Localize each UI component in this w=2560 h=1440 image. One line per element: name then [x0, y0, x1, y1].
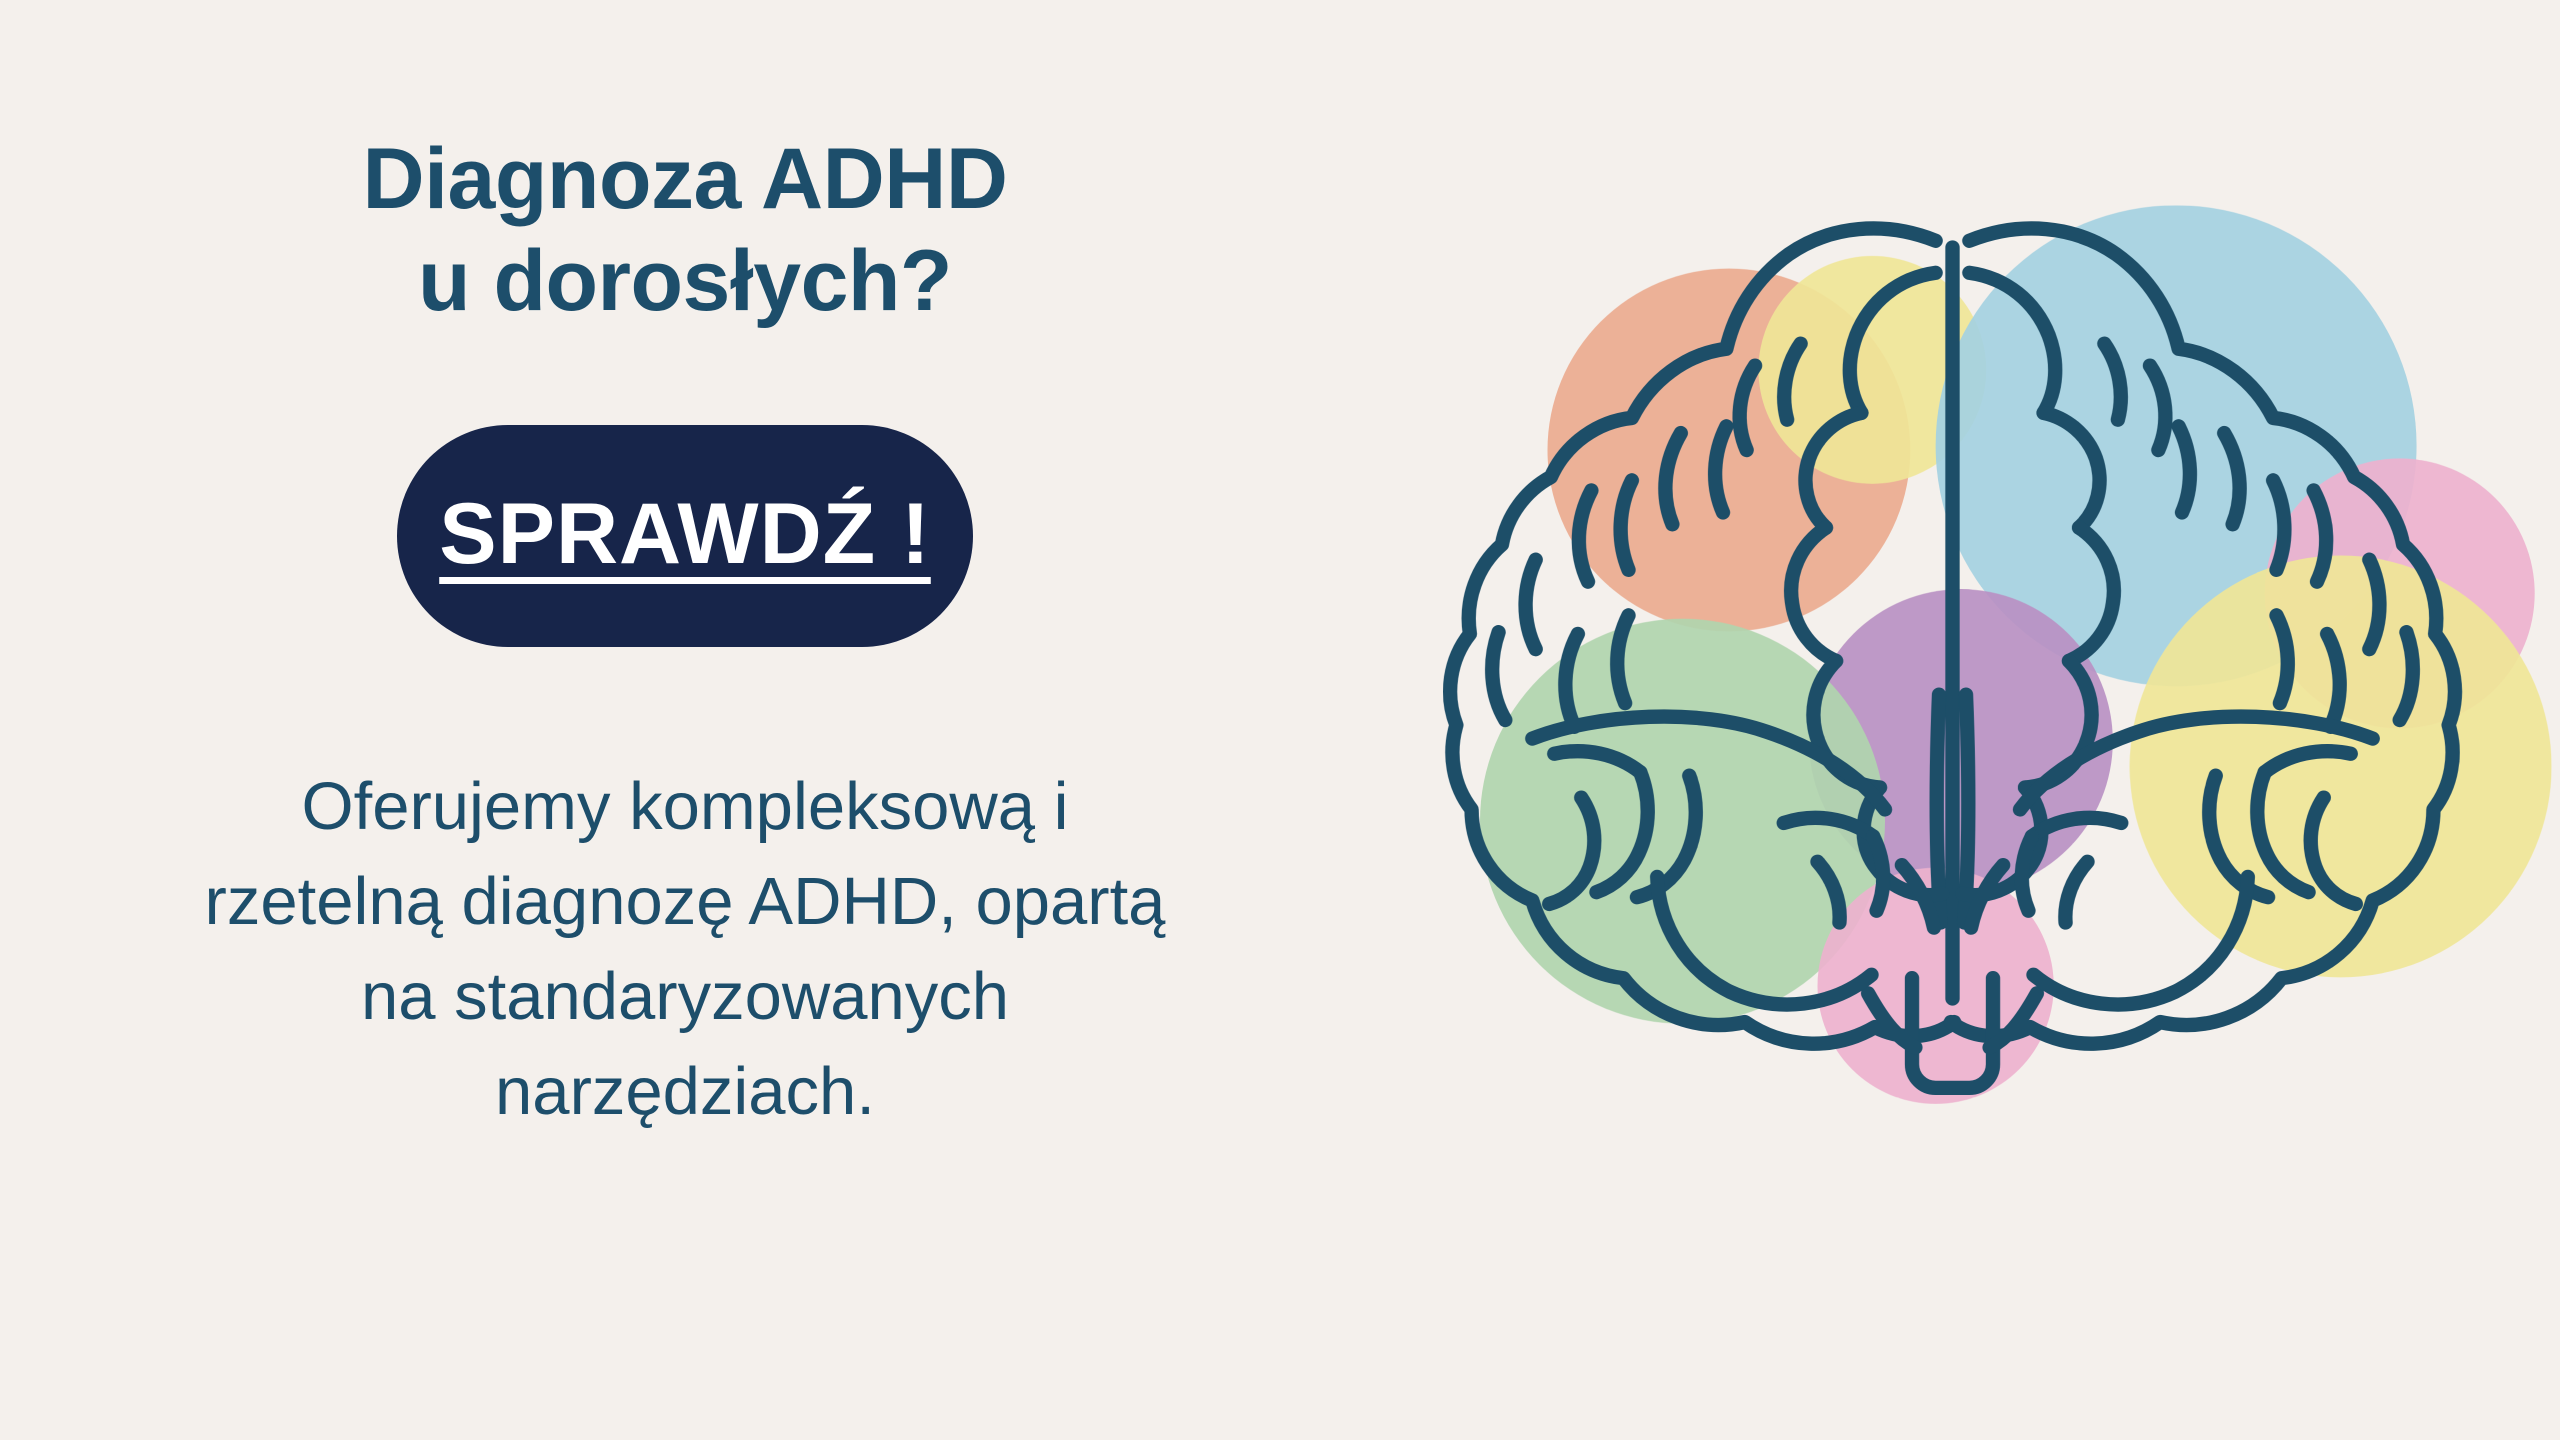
cta-button-label: SPRAWDŹ ! [439, 491, 931, 577]
sprawdz-cta-button[interactable]: SPRAWDŹ ! [397, 425, 973, 647]
text-column: Diagnoza ADHD u dorosłych? SPRAWDŹ ! Ofe… [0, 0, 1370, 1440]
brain-illustration [1345, 55, 2560, 1385]
temporal-r-2 [2065, 862, 2087, 923]
sulcus-l-g [1526, 560, 1536, 649]
adhd-diagnosis-banner: Diagnoza ADHD u dorosłych? SPRAWDŹ ! Ofe… [0, 0, 2560, 1440]
yellow-large-circle [2130, 555, 2552, 977]
body-description: Oferujemy kompleksową i rzetelną diagnoz… [95, 759, 1275, 1140]
color-circles-group [1480, 205, 2552, 1104]
page-title: Diagnoza ADHD u dorosłych? [105, 128, 1265, 333]
brain-illustration-svg [1345, 55, 2560, 1385]
sulcus-l-h [1492, 632, 1505, 720]
